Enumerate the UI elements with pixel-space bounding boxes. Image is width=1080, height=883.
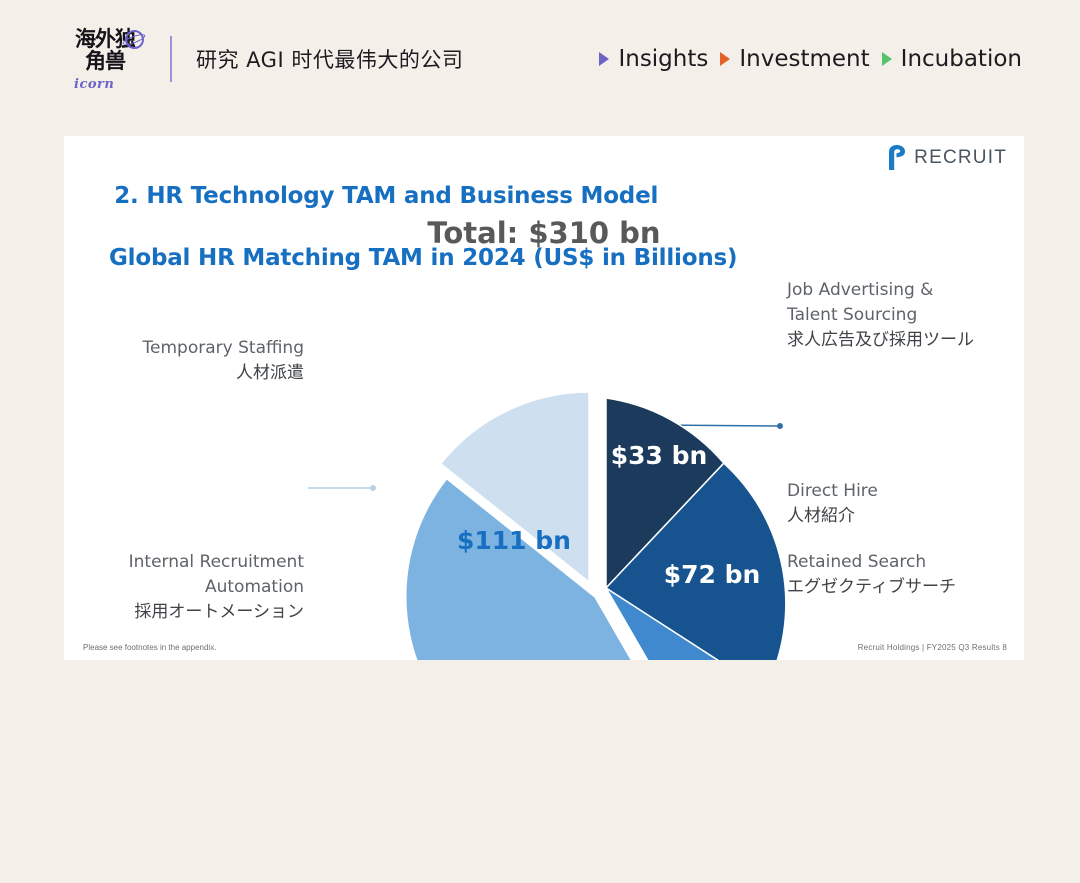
callout-direct-hire-en: Direct Hire [787, 479, 878, 504]
slide-footnote: Please see footnotes in the appendix. [83, 643, 216, 652]
triangle-right-icon [720, 52, 730, 66]
callout-retained-search-en: Retained Search [787, 550, 956, 575]
callout-direct-hire: Direct Hire 人材紹介 [787, 479, 878, 529]
pie-value-job-advertising: $33 bn [611, 441, 708, 470]
callout-internal-recruitment-en-line1: Internal Recruitment [64, 550, 304, 575]
callout-temporary-staffing: Temporary Staffing 人材派遣 [64, 336, 304, 386]
nav-item-investment[interactable]: Investment [720, 46, 869, 72]
pie-value-temporary-staffing: $111 bn [457, 526, 571, 555]
nav-label-investment: Investment [739, 46, 869, 72]
header-tagline: 研究 AGI 时代最伟大的公司 [196, 44, 463, 74]
header-divider [170, 36, 172, 82]
callout-internal-recruitment-en-line2: Automation [64, 575, 304, 600]
callout-internal-recruitment: Internal Recruitment Automation 採用オートメーシ… [64, 550, 304, 625]
nav-label-insights: Insights [618, 46, 708, 72]
pie-value-direct-hire: $72 bn [664, 560, 761, 589]
callout-direct-hire-jp: 人材紹介 [787, 504, 878, 529]
site-logo[interactable]: 海外独角兽 icorn [68, 28, 142, 90]
leader-dot-temporary-staffing [370, 485, 376, 491]
triangle-right-icon [599, 52, 609, 66]
leader-dot-job-advertising [777, 423, 783, 429]
slide-page-footer: Recruit Holdings | FY2025 Q3 Results 8 [858, 643, 1007, 652]
callout-retained-search: Retained Search エグゼクティブサーチ [787, 550, 956, 600]
callout-retained-search-jp: エグゼクティブサーチ [787, 575, 956, 600]
callout-temporary-staffing-jp: 人材派遣 [64, 361, 304, 386]
callout-internal-recruitment-jp: 採用オートメーション [64, 600, 304, 625]
slide-canvas: 2. HR Technology TAM and Business Model … [64, 136, 1024, 660]
callout-job-advertising-en-line1: Job Advertising & [787, 278, 974, 303]
logo-subtext: icorn [74, 77, 114, 92]
callout-job-advertising-jp: 求人広告及び採用ツール [787, 328, 974, 353]
callout-temporary-staffing-en: Temporary Staffing [64, 336, 304, 361]
callout-job-advertising-en-line2: Talent Sourcing [787, 303, 974, 328]
nav-item-insights[interactable]: Insights [599, 46, 708, 72]
header-nav: Insights Investment Incubation [599, 46, 1022, 72]
brand-block: 海外独角兽 icorn 研究 AGI 时代最伟大的公司 [68, 28, 463, 90]
planet-icon [125, 30, 144, 49]
nav-label-incubation: Incubation [901, 46, 1022, 72]
triangle-right-icon [882, 52, 892, 66]
nav-item-incubation[interactable]: Incubation [882, 46, 1022, 72]
page-header: 海外独角兽 icorn 研究 AGI 时代最伟大的公司 Insights Inv… [0, 0, 1080, 118]
callout-job-advertising: Job Advertising & Talent Sourcing 求人広告及び… [787, 278, 974, 353]
